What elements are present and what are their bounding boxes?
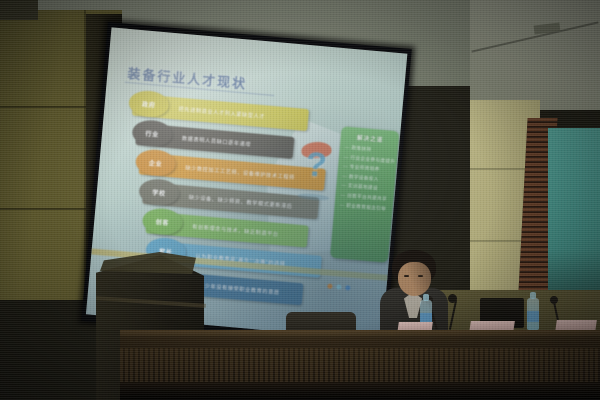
slide-row-text: 缺少设备、缺少师资、教学模式更新滞后 <box>188 193 292 209</box>
table-flute <box>475 348 478 382</box>
wood-slat <box>520 258 550 261</box>
solution-panel-item: 专业师资培养 <box>343 164 392 174</box>
table-flute <box>425 348 428 382</box>
table-flute <box>270 348 273 382</box>
table-flute <box>560 348 563 382</box>
table-flute <box>430 348 433 382</box>
wood-slat <box>520 253 550 256</box>
table-flute <box>125 348 128 382</box>
table-flute <box>535 348 538 382</box>
table-flute <box>175 348 178 382</box>
table-flute <box>585 348 588 382</box>
table-flute <box>215 348 218 382</box>
table-flute <box>555 348 558 382</box>
table-flute <box>505 348 508 382</box>
solution-panel-list: 政策扶持行业企业参与度提升专业师资培养教学设备投入实训基地建设创客平台共建共享职… <box>339 145 393 213</box>
slide-row-text: 青少年没有接受职业教育的意愿 <box>199 282 280 296</box>
table-fluting <box>120 348 600 382</box>
table-flute <box>405 348 408 382</box>
wood-slat <box>520 268 550 271</box>
table-flute <box>210 348 213 382</box>
wood-slat <box>521 238 551 241</box>
table-flute <box>155 348 158 382</box>
table-flute <box>420 348 423 382</box>
table-flute <box>240 348 243 382</box>
table-flute <box>550 348 553 382</box>
question-mark-glyph: ? <box>295 146 338 183</box>
ceiling-right-section <box>470 0 600 110</box>
table-flute <box>580 348 583 382</box>
table-flute <box>255 348 258 382</box>
table-flute <box>495 348 498 382</box>
wood-slat <box>527 123 557 126</box>
table-flute <box>590 348 593 382</box>
wood-slat <box>519 273 549 276</box>
wall-left-corner-shadow <box>0 0 38 20</box>
table-flute <box>435 348 438 382</box>
presenter-face-shading <box>398 262 431 296</box>
indicator-dot <box>327 284 332 289</box>
table-flute <box>485 348 488 382</box>
table-flute <box>340 348 343 382</box>
table-flute <box>225 348 228 382</box>
wood-slat <box>519 278 549 281</box>
table-flute <box>540 348 543 382</box>
table-flute <box>480 348 483 382</box>
table-flute <box>165 348 168 382</box>
table-flute <box>445 348 448 382</box>
microphone-icon <box>448 294 457 303</box>
table-flute <box>595 348 598 382</box>
question-mark-shadow <box>297 193 329 202</box>
table-flute <box>195 348 198 382</box>
table-flute <box>250 348 253 382</box>
solution-panel-item: 政策扶持 <box>345 145 394 155</box>
table-flute <box>325 348 328 382</box>
table-flute <box>290 348 293 382</box>
table-flute <box>455 348 458 382</box>
table-flute <box>275 348 278 382</box>
slide-row-text: 有创新理念与技术，缺乏制造平台 <box>192 223 279 238</box>
table-flute <box>260 348 263 382</box>
wood-slat <box>520 263 550 266</box>
indicator-dot <box>345 285 350 290</box>
table-flute <box>385 348 388 382</box>
photo-scene: 装备行业人才现状 把先进制造业人才列入紧缺型人才政府数据表明人员缺口逐年递增行业… <box>0 0 600 400</box>
solution-panel: 解决之道 政策扶持行业企业参与度提升专业师资培养教学设备投入实训基地建设创客平台… <box>330 126 400 263</box>
table-flute <box>460 348 463 382</box>
solution-panel-item: 教学设备投入 <box>342 173 391 183</box>
table-flute <box>515 348 518 382</box>
table-flute <box>135 348 138 382</box>
table-flute <box>310 348 313 382</box>
table-flute <box>415 348 418 382</box>
slide-row-text: 数据表明人员缺口逐年递增 <box>182 135 252 148</box>
table-flute <box>305 348 308 382</box>
table-flute <box>245 348 248 382</box>
table-flute <box>190 348 193 382</box>
table-flute <box>370 348 373 382</box>
table-flute <box>335 348 338 382</box>
table-flute <box>570 348 573 382</box>
table-flute <box>140 348 143 382</box>
table-flute <box>545 348 548 382</box>
table-flute <box>490 348 493 382</box>
microphone-icon <box>550 296 558 304</box>
table-flute <box>320 348 323 382</box>
solution-panel-item: 实训基地建设 <box>341 183 390 193</box>
table-flute <box>185 348 188 382</box>
table-flute <box>285 348 288 382</box>
presenter-eye-left <box>404 275 409 277</box>
table-foreground-shadow <box>120 382 600 400</box>
table-flute <box>235 348 238 382</box>
table-flute <box>465 348 468 382</box>
table-flute <box>300 348 303 382</box>
wood-slat <box>527 118 557 121</box>
table-flute <box>170 348 173 382</box>
table-flute <box>295 348 298 382</box>
table-flute <box>380 348 383 382</box>
table-flute <box>200 348 203 382</box>
table-flute <box>470 348 473 382</box>
table-flute <box>365 348 368 382</box>
slide-row-text: 缺少数控加工工艺师、设备维护技术工程师 <box>185 164 295 181</box>
table-flute <box>180 348 183 382</box>
table-flute <box>375 348 378 382</box>
table-flute <box>330 348 333 382</box>
wood-slat <box>521 233 551 236</box>
solution-panel-item: 行业企业参与度提升 <box>344 154 393 164</box>
solution-panel-item: 创客平台共建共享 <box>340 192 389 202</box>
table-flute <box>360 348 363 382</box>
table-flute <box>565 348 568 382</box>
indicator-dot <box>336 284 341 289</box>
table-flute <box>350 348 353 382</box>
table-flute <box>410 348 413 382</box>
wood-slat <box>521 248 551 251</box>
table-flute <box>525 348 528 382</box>
question-mark-figure: ? <box>293 140 338 203</box>
table-flute <box>575 348 578 382</box>
bottle-label <box>527 311 539 322</box>
solution-panel-item: 职业教育观念引导 <box>339 202 388 212</box>
table-flute <box>520 348 523 382</box>
wood-slat <box>521 243 551 246</box>
table-flute <box>390 348 393 382</box>
table-flute <box>150 348 153 382</box>
table-flute <box>355 348 358 382</box>
table-flute <box>440 348 443 382</box>
table-flute <box>230 348 233 382</box>
table-flute <box>395 348 398 382</box>
table-flute <box>510 348 513 382</box>
wood-slat <box>519 283 549 286</box>
table-flute <box>130 348 133 382</box>
table-flute <box>265 348 268 382</box>
table-flute <box>145 348 148 382</box>
table-flute <box>220 348 223 382</box>
table-flute <box>120 348 123 382</box>
presenter-eye-right <box>418 275 423 277</box>
table-flute <box>450 348 453 382</box>
table-flute <box>500 348 503 382</box>
solution-panel-heading: 解决之道 <box>345 133 395 145</box>
table-flute <box>400 348 403 382</box>
table-flute <box>205 348 208 382</box>
water-bottle <box>527 298 539 330</box>
table-flute <box>530 348 533 382</box>
table-flute <box>315 348 318 382</box>
table-flute <box>280 348 283 382</box>
table-flute <box>160 348 163 382</box>
slide-row-text: 把先进制造业人才列入紧缺型人才 <box>178 105 265 120</box>
table-flute <box>345 348 348 382</box>
